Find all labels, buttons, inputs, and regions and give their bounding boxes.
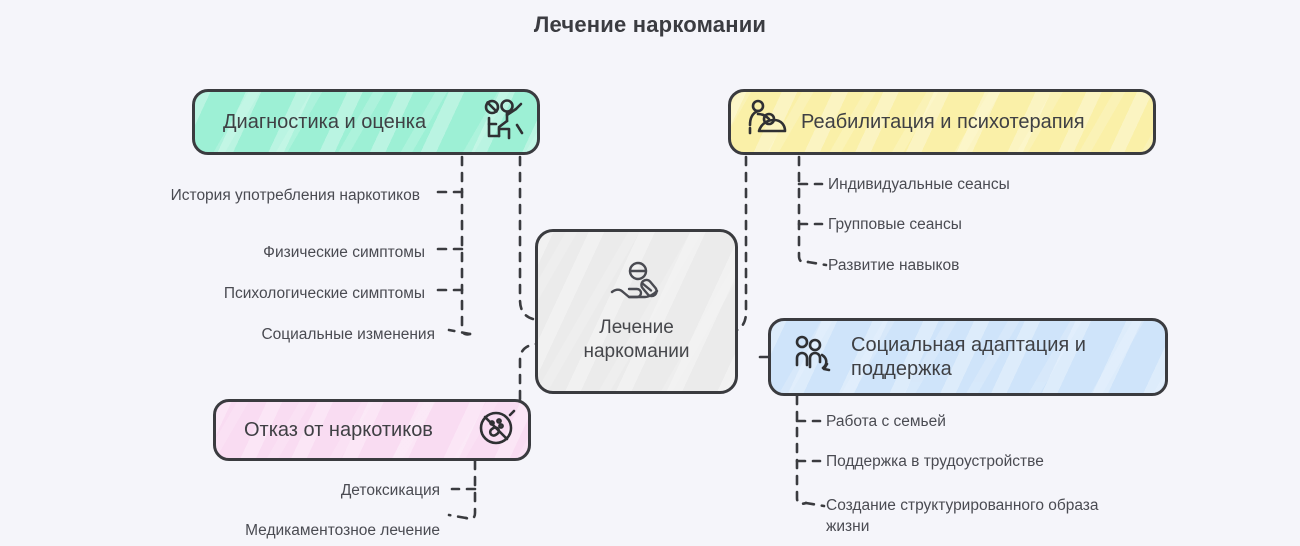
node-diagnostics[interactable]: Диагностика и оценка	[192, 89, 540, 155]
leaf-rehab-1: Групповые сеансы	[828, 215, 1148, 236]
no-drugs-icon	[476, 407, 518, 454]
leaf-diagnostics-0: История употребления наркотиков	[60, 186, 420, 207]
leaf-social-1: Поддержка в трудоустройстве	[826, 452, 1156, 473]
hand-holding-pills-icon	[606, 259, 668, 312]
node-diagnostics-label: Диагностика и оценка	[223, 110, 426, 134]
therapy-session-icon	[745, 98, 789, 147]
leaf-diagnostics-3: Социальные изменения	[60, 325, 435, 346]
leaf-social-0: Работа с семьей	[826, 412, 1156, 433]
node-refusal[interactable]: Отказ от наркотиков	[213, 399, 531, 461]
person-assessment-icon	[481, 98, 527, 147]
leaf-refusal-1: Медикаментозное лечение	[80, 521, 440, 542]
leaf-diagnostics-2: Психологические симптомы	[60, 284, 425, 305]
page-title: Лечение наркомании	[0, 12, 1300, 38]
leaf-social-2: Создание структурированного образа жизни	[826, 496, 1146, 538]
node-social-label: Социальная адаптация и поддержка	[851, 333, 1149, 381]
node-rehab-label: Реабилитация и психотерапия	[801, 110, 1085, 134]
leaf-diagnostics-1: Физические симптомы	[60, 243, 425, 264]
node-social[interactable]: Социальная адаптация и поддержка	[768, 318, 1168, 396]
node-rehab[interactable]: Реабилитация и психотерапия	[728, 89, 1156, 155]
leaf-rehab-2: Развитие навыков	[828, 256, 1148, 277]
leaf-rehab-0: Индивидуальные сеансы	[828, 175, 1148, 196]
node-center[interactable]: Лечение наркомании	[535, 229, 738, 394]
people-support-icon	[791, 333, 835, 382]
node-refusal-label: Отказ от наркотиков	[244, 418, 433, 442]
leaf-refusal-0: Детоксикация	[80, 481, 440, 502]
mindmap-canvas: Лечение наркомании Лечение наркомании Ди…	[0, 0, 1300, 546]
center-label: Лечение наркомании	[583, 316, 689, 365]
